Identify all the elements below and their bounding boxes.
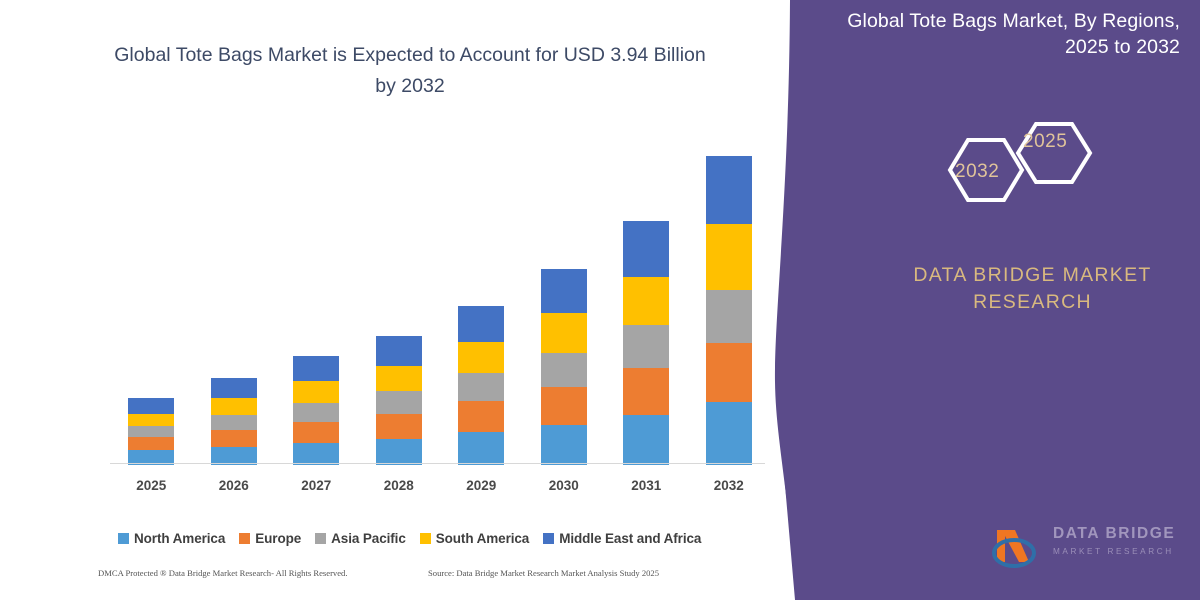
x-axis-label-2032: 2032 — [694, 478, 764, 493]
legend-swatch-icon — [543, 533, 554, 544]
bar-segment — [458, 432, 504, 465]
bar-segment — [458, 401, 504, 432]
footer-source-text: Source: Data Bridge Market Research Mark… — [428, 568, 659, 578]
logo-text: DATA BRIDGE MARKET RESEARCH — [1053, 525, 1175, 556]
bar-2028 — [376, 336, 422, 465]
bar-segment — [623, 221, 669, 277]
bar-segment — [706, 343, 752, 402]
bar-segment — [376, 391, 422, 414]
chart-title: Global Tote Bags Market is Expected to A… — [105, 40, 715, 102]
bar-segment — [376, 439, 422, 465]
company-logo: DATA BRIDGE MARKET RESEARCH — [985, 522, 1190, 574]
legend-item[interactable]: North America — [118, 531, 225, 546]
bar-2026 — [211, 378, 257, 465]
legend-label: Middle East and Africa — [559, 531, 701, 546]
legend-label: North America — [134, 531, 225, 546]
x-axis-label-2025: 2025 — [116, 478, 186, 493]
legend-item[interactable]: Asia Pacific — [315, 531, 406, 546]
brand-name: DATA BRIDGE MARKET RESEARCH — [900, 262, 1165, 316]
bar-2025 — [128, 398, 174, 465]
bar-segment — [458, 342, 504, 373]
bar-segment — [541, 313, 587, 353]
x-axis-label-2026: 2026 — [199, 478, 269, 493]
hexagon-2025-label: 2025 — [1023, 131, 1067, 153]
bar-segment — [293, 403, 339, 422]
legend-swatch-icon — [239, 533, 250, 544]
bar-segment — [706, 402, 752, 465]
x-axis-label-2029: 2029 — [446, 478, 516, 493]
hexagon-badges: 2032 2025 — [930, 120, 1120, 230]
logo-text-line1: DATA BRIDGE — [1053, 525, 1175, 543]
bar-2027 — [293, 356, 339, 465]
bar-segment — [458, 373, 504, 401]
bar-segment — [293, 381, 339, 403]
legend-label: Asia Pacific — [331, 531, 406, 546]
bar-segment — [376, 366, 422, 391]
bar-2032 — [706, 156, 752, 465]
bar-segment — [293, 443, 339, 465]
legend-item[interactable]: Middle East and Africa — [543, 531, 701, 546]
stacked-bar-plot — [110, 140, 770, 465]
legend-item[interactable]: Europe — [239, 531, 301, 546]
bar-segment — [376, 414, 422, 439]
bar-segment — [623, 415, 669, 465]
bar-segment — [376, 336, 422, 366]
bar-segment — [293, 356, 339, 381]
legend-item[interactable]: South America — [420, 531, 529, 546]
legend-swatch-icon — [315, 533, 326, 544]
bar-segment — [211, 430, 257, 447]
footer: DMCA Protected ® Data Bridge Market Rese… — [98, 568, 778, 584]
legend-swatch-icon — [420, 533, 431, 544]
chart-area: Global Tote Bags Market is Expected to A… — [0, 0, 790, 600]
bar-2029 — [458, 306, 504, 466]
bar-segment — [211, 398, 257, 415]
legend-label: Europe — [255, 531, 301, 546]
bar-segment — [128, 414, 174, 426]
bar-segment — [541, 425, 587, 465]
bar-segment — [706, 290, 752, 344]
x-axis-label-2028: 2028 — [364, 478, 434, 493]
infographic-canvas: Global Tote Bags Market, By Regions, 202… — [0, 0, 1200, 600]
logo-mark-icon — [985, 522, 1051, 572]
bar-segment — [541, 269, 587, 314]
legend-swatch-icon — [118, 533, 129, 544]
bar-segment — [706, 156, 752, 224]
bar-segment — [541, 353, 587, 387]
x-axis-line — [110, 463, 765, 464]
bar-segment — [128, 398, 174, 414]
footer-dmca-text: DMCA Protected ® Data Bridge Market Rese… — [98, 568, 348, 578]
bar-segment — [128, 437, 174, 450]
bar-segment — [706, 224, 752, 290]
bar-segment — [128, 426, 174, 437]
x-axis-label-2031: 2031 — [611, 478, 681, 493]
chart-legend: North AmericaEuropeAsia PacificSouth Ame… — [118, 531, 768, 546]
bar-segment — [623, 368, 669, 415]
x-axis-label-2030: 2030 — [529, 478, 599, 493]
logo-text-line2: MARKET RESEARCH — [1053, 547, 1175, 556]
brand-panel-title: Global Tote Bags Market, By Regions, 202… — [830, 8, 1180, 60]
bar-segment — [458, 306, 504, 343]
bar-2031 — [623, 221, 669, 465]
x-axis-label-2027: 2027 — [281, 478, 351, 493]
bar-2030 — [541, 269, 587, 465]
bar-segment — [211, 415, 257, 430]
bar-segment — [293, 422, 339, 443]
legend-label: South America — [436, 531, 529, 546]
bar-segment — [211, 378, 257, 398]
hexagon-2032-label: 2032 — [955, 161, 999, 183]
bar-segment — [623, 325, 669, 368]
x-axis-labels: 20252026202720282029203020312032 — [110, 478, 770, 500]
bar-segment — [623, 277, 669, 326]
bar-segment — [541, 387, 587, 425]
